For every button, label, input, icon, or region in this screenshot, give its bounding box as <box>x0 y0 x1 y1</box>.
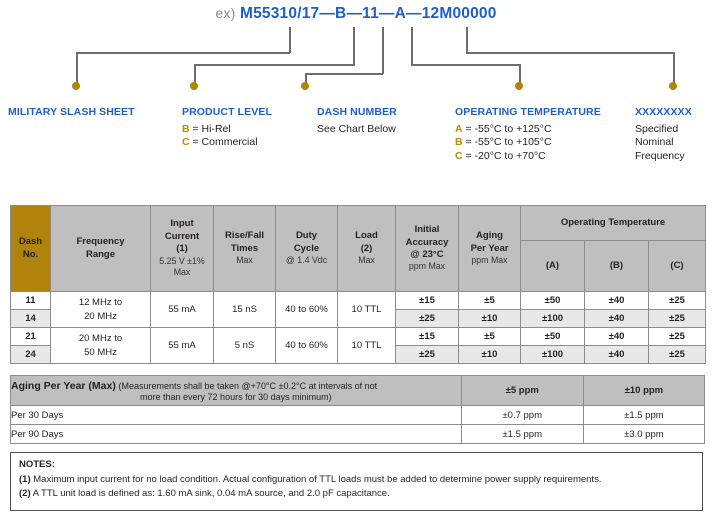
leader-dot-op-temp <box>515 82 523 90</box>
leader-seg-dash-number-h <box>305 73 383 75</box>
leader-dot-slash-sheet <box>72 82 80 90</box>
cell-dash-no: 21 <box>11 328 51 346</box>
header-rise-fall-times: Rise/Fall Times Max <box>214 206 276 292</box>
legend-line: Frequency <box>635 150 712 164</box>
legend-text: See Chart Below <box>317 123 396 135</box>
header-initial-accuracy-l2: Accuracy <box>406 237 449 248</box>
note-item: (2) A TTL unit load is defined as: 1.60 … <box>19 487 694 501</box>
legend-text: Specified <box>635 123 678 135</box>
header-frequency-range-l2: Range <box>86 249 115 260</box>
cell-initial-accuracy: ±25 <box>396 310 459 328</box>
aging-header-value-1: ±5 ppm <box>461 376 583 406</box>
header-aging-l1: Aging <box>476 230 503 241</box>
leader-seg-op-temp-h <box>411 64 521 66</box>
table-row: 21 20 MHz to 50 MHz 55 mA 5 nS 40 to 60%… <box>11 328 706 346</box>
header-load: Load (2) Max <box>338 206 396 292</box>
aging-note-l1: (Measurements shall be taken @+70°C ±0.2… <box>118 381 377 391</box>
cell-op-temp-c: ±25 <box>649 310 706 328</box>
legend-operating-temperature: OPERATING TEMPERATURE A = -55°C to +125°… <box>455 106 635 163</box>
header-duty-cycle-l2: Cycle <box>294 243 319 254</box>
header-initial-accuracy-l1: Initial <box>415 224 440 235</box>
header-initial-accuracy-l3: @ 23°C <box>410 249 443 260</box>
aging-note-l2: more than every 72 hours for 30 days min… <box>11 392 461 402</box>
cell-rise-fall: 5 nS <box>214 328 276 364</box>
aging-value-2: ±1.5 ppm <box>583 406 704 425</box>
legend-military-slash-sheet: MILITARY SLASH SHEET <box>8 106 183 123</box>
header-initial-accuracy: Initial Accuracy @ 23°C ppm Max <box>396 206 459 292</box>
aging-period-label: Per 90 Days <box>11 425 462 444</box>
legend-text: = Commercial <box>190 136 258 148</box>
note-number: (1) <box>19 474 31 485</box>
tick-mark-operating-temperature <box>411 27 413 40</box>
legend-title: OPERATING TEMPERATURE <box>455 106 635 120</box>
aging-period-label: Per 30 Days <box>11 406 462 425</box>
header-rise-fall-l2: Times <box>231 243 258 254</box>
header-frequency-range: Frequency Range <box>51 206 151 292</box>
legend-frequency: XXXXXXXX Specified Nominal Frequency <box>635 106 712 163</box>
cell-dash-no: 24 <box>11 346 51 364</box>
cell-op-temp-b: ±40 <box>585 292 649 310</box>
legend-title: PRODUCT LEVEL <box>182 106 317 120</box>
table-row: 11 12 MHz to 20 MHz 55 mA 15 nS 40 to 60… <box>11 292 706 310</box>
leader-dot-product-level <box>190 82 198 90</box>
header-duty-cycle: Duty Cycle @ 1.4 Vdc <box>276 206 338 292</box>
cell-load: 10 TTL <box>338 292 396 328</box>
legend-title: XXXXXXXX <box>635 106 712 120</box>
leader-seg-product-level-h <box>194 64 355 66</box>
part-number-text: M55310/17—B—11—A—12M00000 <box>240 5 497 22</box>
header-aging-per-year: Aging Per Year ppm Max <box>459 206 521 292</box>
cell-frequency-range: 20 MHz to 50 MHz <box>51 328 151 364</box>
tick-mark-product-level <box>353 27 355 40</box>
legend-line: B = Hi-Rel <box>182 123 317 137</box>
cell-op-temp-a: ±100 <box>521 310 585 328</box>
cell-dash-no: 11 <box>11 292 51 310</box>
legend-title: MILITARY SLASH SHEET <box>8 106 183 120</box>
example-part-number: ex) M55310/17—B—11—A—12M00000 <box>0 5 712 23</box>
cell-op-temp-a: ±100 <box>521 346 585 364</box>
cell-aging: ±5 <box>459 292 521 310</box>
header-dash-no-l2: No. <box>23 249 38 260</box>
cell-initial-accuracy: ±15 <box>396 292 459 310</box>
header-aging-sub: ppm Max <box>459 255 520 267</box>
cell-initial-accuracy: ±25 <box>396 346 459 364</box>
cell-op-temp-b: ±40 <box>585 310 649 328</box>
legend-key: B <box>182 123 190 135</box>
cell-aging: ±5 <box>459 328 521 346</box>
aging-row: Per 30 Days ±0.7 ppm ±1.5 ppm <box>11 406 705 425</box>
legend-line: A = -55°C to +125°C <box>455 123 635 137</box>
legend-key: C <box>455 150 463 162</box>
legend-line: C = -20°C to +70°C <box>455 150 635 164</box>
legend-line: See Chart Below <box>317 123 449 137</box>
header-load-sub: Max <box>338 255 395 267</box>
legend-text: Nominal <box>635 136 674 148</box>
example-prefix: ex) <box>215 5 235 21</box>
leader-dot-dash-number <box>301 82 309 90</box>
header-load-l1: Load <box>355 230 378 241</box>
legend-text: = -55°C to +125°C <box>463 123 552 135</box>
cell-op-temp-b: ±40 <box>585 346 649 364</box>
cell-initial-accuracy: ±15 <box>396 328 459 346</box>
tick-mark-slash-sheet <box>289 27 291 40</box>
cell-frequency-range: 12 MHz to 20 MHz <box>51 292 151 328</box>
part-number-breakdown-diagram: ex) M55310/17—B—11—A—12M00000 MILITARY S… <box>0 0 712 195</box>
header-input-current-l3: (1) <box>176 243 188 254</box>
header-rise-fall-sub: Max <box>214 255 275 267</box>
aging-row: Per 90 Days ±1.5 ppm ±3.0 ppm <box>11 425 705 444</box>
header-input-current-l2: Current <box>165 231 199 242</box>
legend-product-level: PRODUCT LEVEL B = Hi-Rel C = Commercial <box>182 106 317 150</box>
aging-header-row: Aging Per Year (Max) (Measurements shall… <box>11 376 705 406</box>
header-input-current-sub1: 5.25 V ±1% <box>151 256 213 268</box>
legend-text: Frequency <box>635 150 685 162</box>
note-text: A TTL unit load is defined as: 1.60 mA s… <box>31 488 390 499</box>
table-header-row-1: Dash No. Frequency Range Input Current (… <box>11 206 706 241</box>
cell-op-temp-c: ±25 <box>649 346 706 364</box>
header-aging-l2: Per Year <box>471 243 509 254</box>
cell-op-temp-c: ±25 <box>649 328 706 346</box>
header-op-temp-b: (B) <box>585 241 649 292</box>
leader-seg-product-level-v1 <box>353 40 355 65</box>
cell-op-temp-a: ±50 <box>521 328 585 346</box>
cell-input-current: 55 mA <box>151 292 214 328</box>
cell-op-temp-a: ±50 <box>521 292 585 310</box>
header-input-current-l1: Input <box>170 218 193 229</box>
cell-input-current: 55 mA <box>151 328 214 364</box>
header-dash-no: Dash No. <box>11 206 51 292</box>
cell-aging: ±10 <box>459 310 521 328</box>
aging-header-value-2: ±10 ppm <box>583 376 704 406</box>
legend-text: = -55°C to +105°C <box>463 136 552 148</box>
header-op-temp-c: (C) <box>649 241 706 292</box>
aging-value-1: ±0.7 ppm <box>461 406 583 425</box>
header-rise-fall-l1: Rise/Fall <box>225 230 264 241</box>
leader-seg-op-temp-v1 <box>411 40 413 65</box>
tick-mark-dash-number <box>382 27 384 40</box>
legend-key: C <box>182 136 190 148</box>
header-duty-cycle-sub: @ 1.4 Vdc <box>276 255 337 267</box>
aging-per-year-table: Aging Per Year (Max) (Measurements shall… <box>10 375 705 444</box>
aging-value-1: ±1.5 ppm <box>461 425 583 444</box>
cell-duty-cycle: 40 to 60% <box>276 328 338 364</box>
cell-op-temp-c: ±25 <box>649 292 706 310</box>
header-operating-temperature-group: Operating Temperature <box>521 206 706 241</box>
legend-dash-number: DASH NUMBER See Chart Below <box>317 106 449 136</box>
freq-l1: 20 MHz to <box>79 333 122 344</box>
freq-l2: 20 MHz <box>84 311 117 322</box>
legend-key: B <box>455 136 463 148</box>
specification-table: Dash No. Frequency Range Input Current (… <box>10 205 706 364</box>
notes-box: NOTES: (1) Maximum input current for no … <box>10 452 703 511</box>
header-duty-cycle-l1: Duty <box>296 230 317 241</box>
aging-value-2: ±3.0 ppm <box>583 425 704 444</box>
leader-seg-dash-number-v1 <box>382 40 384 74</box>
cell-load: 10 TTL <box>338 328 396 364</box>
notes-title: NOTES: <box>19 459 694 470</box>
legend-line: B = -55°C to +105°C <box>455 136 635 150</box>
header-load-l2: (2) <box>361 243 373 254</box>
leader-seg-slash-sheet-v2 <box>76 52 78 85</box>
note-number: (2) <box>19 488 31 499</box>
cell-rise-fall: 15 nS <box>214 292 276 328</box>
legend-line: Specified <box>635 123 712 137</box>
legend-line: Nominal <box>635 136 712 150</box>
legend-title: DASH NUMBER <box>317 106 449 120</box>
leader-seg-frequency-v2 <box>673 52 675 85</box>
header-input-current: Input Current (1) 5.25 V ±1% Max <box>151 206 214 292</box>
note-item: (1) Maximum input current for no load co… <box>19 473 694 487</box>
legend-line: C = Commercial <box>182 136 317 150</box>
cell-aging: ±10 <box>459 346 521 364</box>
header-frequency-range-l1: Frequency <box>76 236 124 247</box>
legend-text: = Hi-Rel <box>190 123 231 135</box>
cell-op-temp-b: ±40 <box>585 328 649 346</box>
aging-title: Aging Per Year (Max) <box>11 380 116 392</box>
header-initial-accuracy-sub: ppm Max <box>396 261 458 273</box>
header-dash-no-l1: Dash <box>19 236 42 247</box>
leader-dot-frequency <box>669 82 677 90</box>
tick-mark-frequency <box>466 27 468 40</box>
legend-text: = -20°C to +70°C <box>463 150 546 162</box>
header-input-current-sub2: Max <box>151 267 213 279</box>
leader-seg-frequency-h <box>466 52 674 54</box>
cell-dash-no: 14 <box>11 310 51 328</box>
note-text: Maximum input current for no load condit… <box>31 474 602 485</box>
header-op-temp-a: (A) <box>521 241 585 292</box>
aging-title-cell: Aging Per Year (Max) (Measurements shall… <box>11 376 462 406</box>
legend-key: A <box>455 123 463 135</box>
leader-seg-slash-sheet-h <box>76 52 290 54</box>
freq-l2: 50 MHz <box>84 347 117 358</box>
cell-duty-cycle: 40 to 60% <box>276 292 338 328</box>
freq-l1: 12 MHz to <box>79 297 122 308</box>
